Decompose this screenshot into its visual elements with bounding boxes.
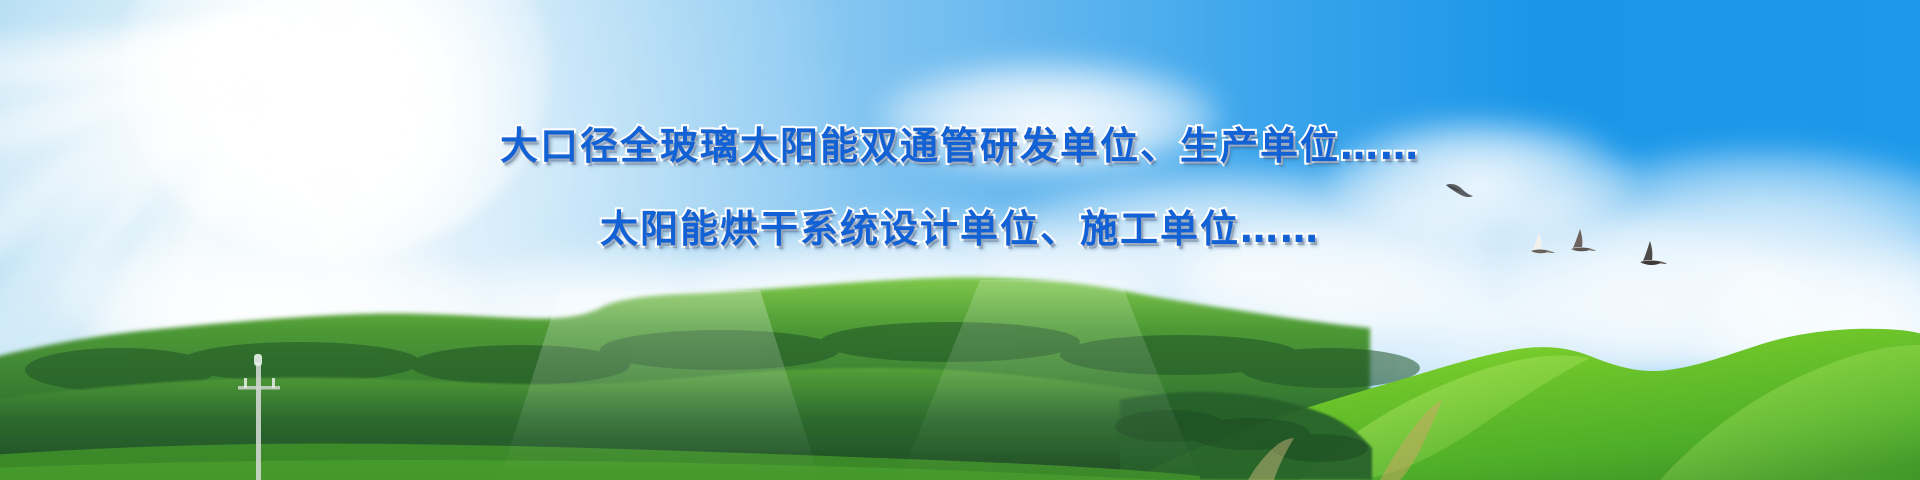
headline-line-2: 太阳能烘干系统设计单位、施工单位……: [0, 198, 1920, 253]
landscape-hills: [0, 250, 1920, 480]
hero-banner: 大口径全玻璃太阳能双通管研发单位、生产单位…… 太阳能烘干系统设计单位、施工单位…: [0, 0, 1920, 480]
headline-line-1: 大口径全玻璃太阳能双通管研发单位、生产单位……: [0, 115, 1920, 170]
